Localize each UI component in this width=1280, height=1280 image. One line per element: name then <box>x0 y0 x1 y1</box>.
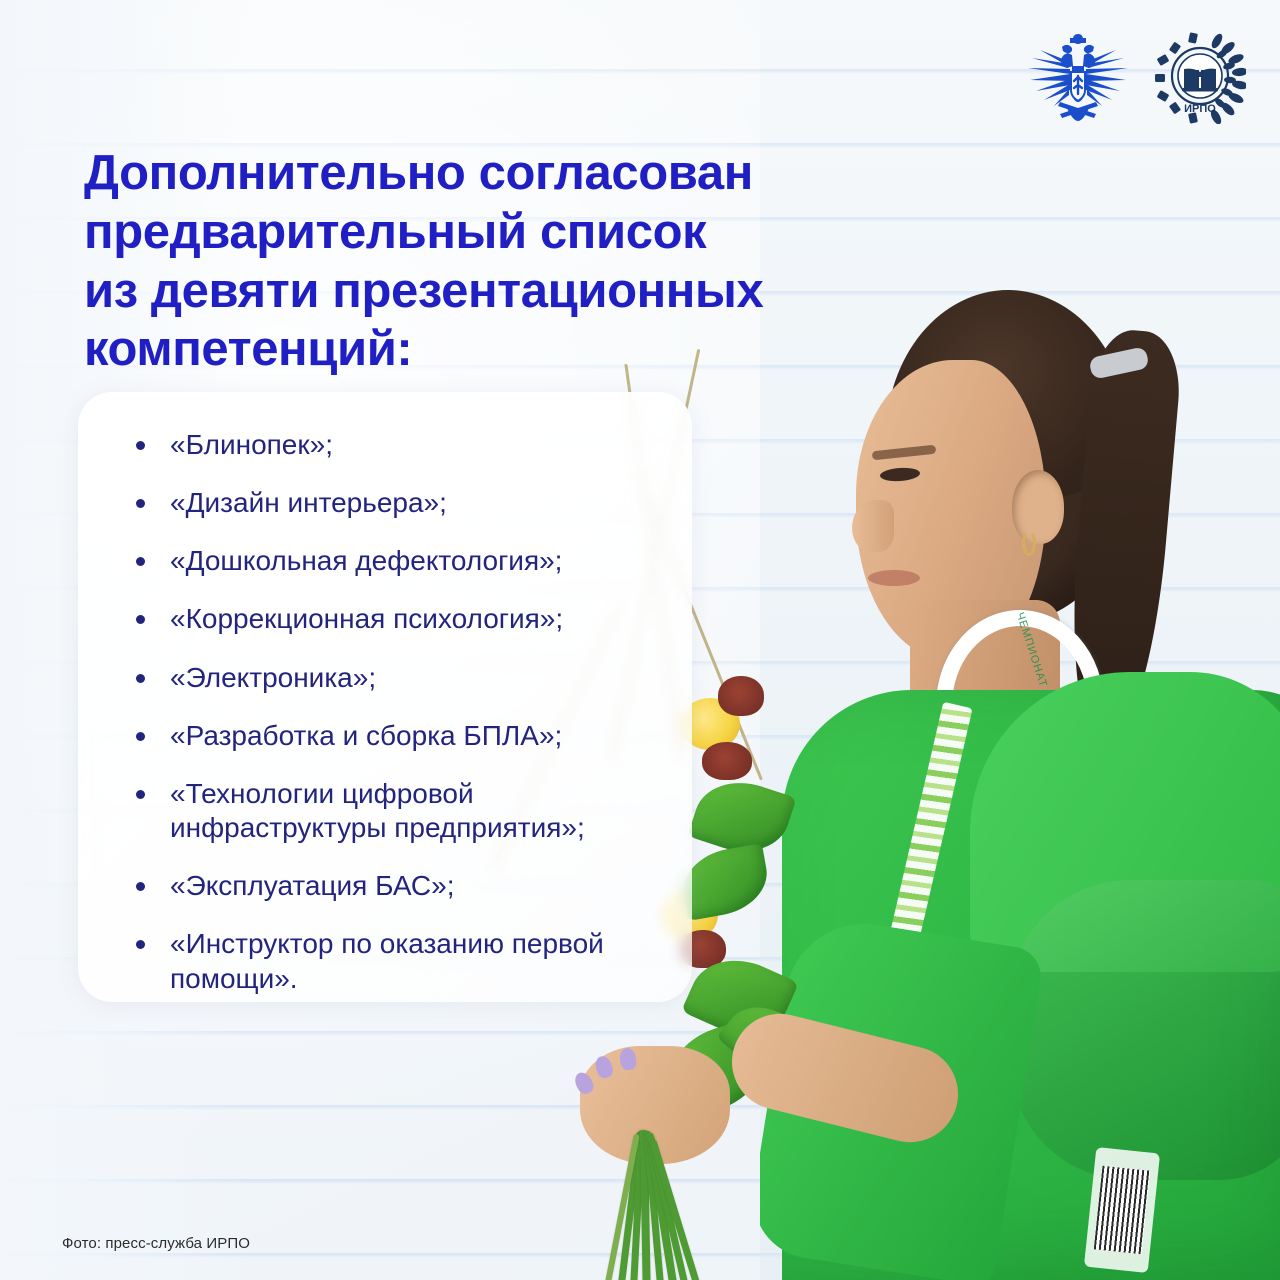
list-item: «Коррекционная психология»; <box>128 602 668 636</box>
headline-line-4: компетенций: <box>84 320 944 379</box>
list-item: «Разработка и сборка БПЛА»; <box>128 719 668 753</box>
page-title: Дополнительно согласован предварительный… <box>84 144 944 379</box>
headline-line-3: из девяти презентационных <box>84 262 944 321</box>
jacket-fold-shading <box>1010 880 1280 1180</box>
headline-line-2: предварительный список <box>84 203 944 262</box>
ear <box>1012 470 1064 544</box>
irpo-emblem-icon: ИРПО <box>1154 32 1246 124</box>
nose <box>852 500 894 552</box>
list-item: «Дошкольная дефектология»; <box>128 544 668 578</box>
lips <box>868 570 920 586</box>
photo-credit-caption: Фото: пресс-служба ИРПО <box>62 1235 250 1252</box>
competencies-list: «Блинопек»; «Дизайн интерьера»; «Дошколь… <box>128 428 668 996</box>
earring <box>1022 530 1036 556</box>
headline-line-1: Дополнительно согласован <box>84 144 944 203</box>
flower-red <box>718 676 764 716</box>
ministry-eagle-emblem-icon <box>1026 28 1130 128</box>
competencies-card: «Блинопек»; «Дизайн интерьера»; «Дошколь… <box>78 392 692 1002</box>
badge-barcode <box>1094 1166 1151 1255</box>
irpo-emblem-label: ИРПО <box>1184 103 1216 115</box>
list-item: «Инструктор по оказанию первой помощи». <box>128 927 668 995</box>
poster-canvas: ЧЕМПИОНАТ <box>0 0 1280 1280</box>
list-item: «Технологии цифровой инфраструктуры пред… <box>128 777 668 845</box>
flower-red <box>702 742 752 780</box>
logo-group: ИРПО <box>1026 28 1246 128</box>
list-item: «Блинопек»; <box>128 428 668 462</box>
list-item: «Эксплуатация БАС»; <box>128 869 668 903</box>
list-item: «Дизайн интерьера»; <box>128 486 668 520</box>
list-item: «Электроника»; <box>128 661 668 695</box>
